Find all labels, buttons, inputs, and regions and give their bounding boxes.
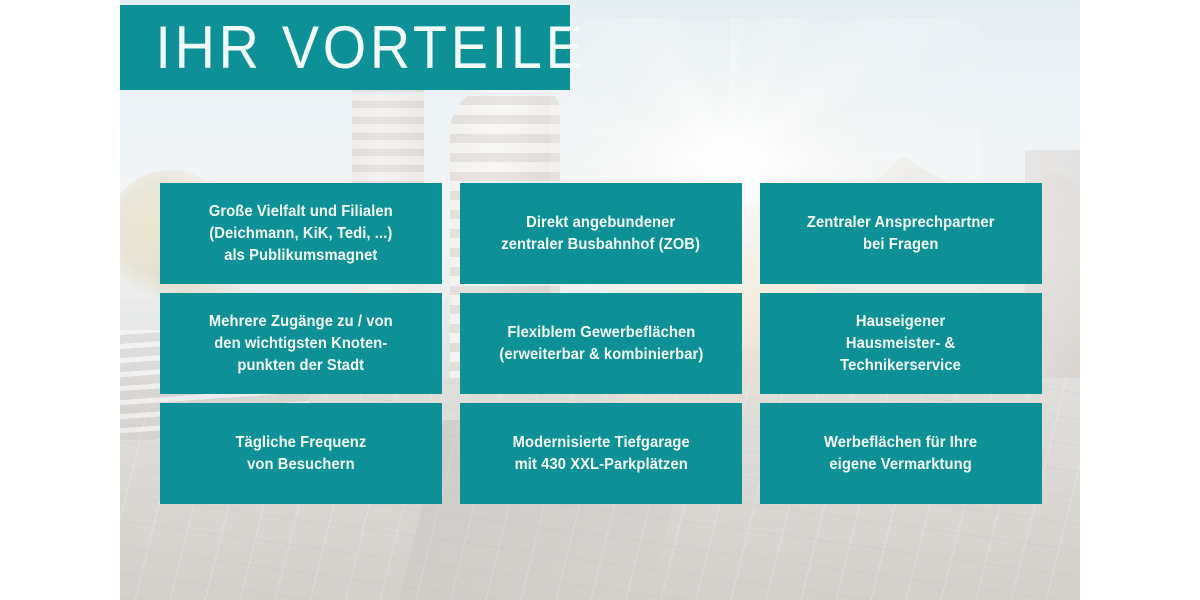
benefit-line: als Publikumsmagnet bbox=[224, 247, 377, 264]
slide-root: IHR VORTEILE Große Vielfalt und Filialen… bbox=[0, 0, 1200, 600]
benefit-card-busbahnhof-zob: Direkt angebundener zentraler Busbahnhof… bbox=[460, 183, 742, 284]
benefit-line: punkten der Stadt bbox=[238, 357, 365, 374]
benefit-line: eigene Vermarktung bbox=[830, 456, 972, 473]
benefit-line: (Deichmann, KiK, Tedi, ...) bbox=[209, 225, 392, 242]
benefit-line: Zentraler Ansprechpartner bbox=[807, 214, 995, 231]
benefit-card-text: Direkt angebundener zentraler Busbahnhof… bbox=[502, 212, 701, 256]
benefit-line: Modernisierte Tiefgarage bbox=[512, 434, 689, 451]
benefit-line: Flexiblem Gewerbeflächen bbox=[507, 324, 695, 341]
benefits-grid: Große Vielfalt und Filialen (Deichmann, … bbox=[160, 183, 1042, 504]
benefit-card-vielfalt-filialen: Große Vielfalt und Filialen (Deichmann, … bbox=[160, 183, 442, 284]
benefit-card-hausmeister-technikerservice: Hauseigener Hausmeister- & Technikerserv… bbox=[760, 293, 1042, 394]
benefit-line: Direkt angebundener bbox=[526, 214, 675, 231]
benefit-card-text: Flexiblem Gewerbeflächen (erweiterbar & … bbox=[499, 322, 703, 366]
benefit-line: bei Fragen bbox=[863, 236, 938, 253]
benefit-line: Technikerservice bbox=[841, 357, 962, 374]
benefit-line: Hausmeister- & bbox=[846, 335, 955, 352]
benefit-line: von Besuchern bbox=[247, 456, 355, 473]
benefit-card-text: Hauseigener Hausmeister- & Technikerserv… bbox=[841, 311, 962, 377]
benefit-card-mehrere-zugaenge: Mehrere Zugänge zu / von den wichtigsten… bbox=[160, 293, 442, 394]
benefit-card-text: Modernisierte Tiefgarage mit 430 XXL-Par… bbox=[512, 432, 689, 476]
benefit-card-taegliche-frequenz: Tägliche Frequenz von Besuchern bbox=[160, 403, 442, 504]
frame-right bbox=[1080, 0, 1200, 600]
frame-left bbox=[0, 0, 120, 600]
benefit-line: (erweiterbar & kombinierbar) bbox=[499, 346, 703, 363]
benefit-line: Werbeflächen für Ihre bbox=[824, 434, 977, 451]
benefit-card-zentraler-ansprechpartner: Zentraler Ansprechpartner bei Fragen bbox=[760, 183, 1042, 284]
title-banner: IHR VORTEILE bbox=[120, 5, 570, 90]
benefit-line: Hauseigener bbox=[856, 313, 945, 330]
benefit-card-text: Tägliche Frequenz von Besuchern bbox=[236, 432, 367, 476]
benefit-line: mit 430 XXL-Parkplätzen bbox=[514, 456, 687, 473]
benefit-line: zentraler Busbahnhof (ZOB) bbox=[502, 236, 701, 253]
benefit-card-tiefgarage: Modernisierte Tiefgarage mit 430 XXL-Par… bbox=[460, 403, 742, 504]
page-title: IHR VORTEILE bbox=[120, 18, 587, 78]
benefit-line: Tägliche Frequenz bbox=[236, 434, 367, 451]
benefit-line: den wichtigsten Knoten- bbox=[214, 335, 387, 352]
benefit-card-text: Große Vielfalt und Filialen (Deichmann, … bbox=[209, 201, 393, 267]
benefit-card-text: Zentraler Ansprechpartner bei Fragen bbox=[807, 212, 995, 256]
benefit-card-werbeflaechen: Werbeflächen für Ihre eigene Vermarktung bbox=[760, 403, 1042, 504]
benefit-card-text: Mehrere Zugänge zu / von den wichtigsten… bbox=[209, 311, 393, 377]
benefit-card-flexible-gewerbeflaechen: Flexiblem Gewerbeflächen (erweiterbar & … bbox=[460, 293, 742, 394]
benefit-card-text: Werbeflächen für Ihre eigene Vermarktung bbox=[824, 432, 977, 476]
benefit-line: Große Vielfalt und Filialen bbox=[209, 203, 393, 220]
benefit-line: Mehrere Zugänge zu / von bbox=[209, 313, 393, 330]
